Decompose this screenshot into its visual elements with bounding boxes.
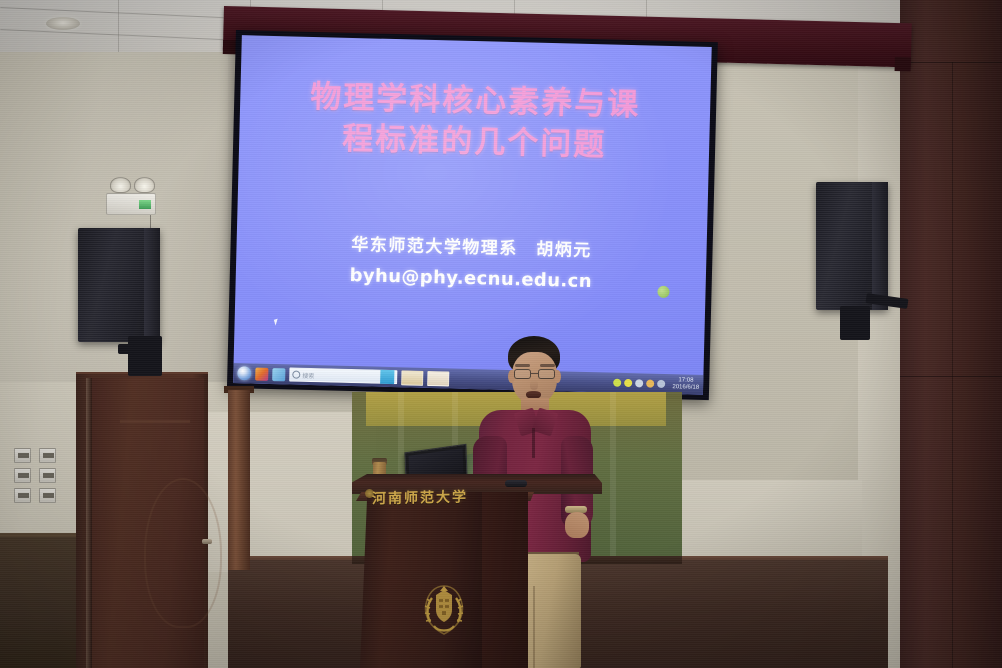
browser-icon[interactable] xyxy=(255,367,268,380)
glasses-lens-left xyxy=(514,369,531,379)
shield-icon[interactable] xyxy=(624,379,632,387)
light-switch[interactable] xyxy=(39,488,56,503)
speaker-bracket-left xyxy=(128,336,162,376)
microphone-base xyxy=(505,480,527,487)
slide-title: 物理学科核心素养与课 程标准的几个问题 xyxy=(239,75,711,169)
left-column xyxy=(228,390,250,570)
slide-email: byhu@phy.ecnu.edu.cn xyxy=(236,262,706,295)
presenter-brow-left xyxy=(515,364,530,367)
recessed-downlight xyxy=(46,17,80,30)
podium-name-plate: 河南师范大学 xyxy=(372,486,504,513)
emergency-lamp-right xyxy=(134,177,155,193)
right-wood-panel xyxy=(900,0,1002,668)
door-leaf xyxy=(92,378,204,668)
light-switch-panel[interactable] xyxy=(14,448,58,504)
emergency-led-icon xyxy=(139,200,151,209)
backdrop-stripe xyxy=(610,392,616,562)
glasses-lens-right xyxy=(538,369,555,379)
slide-green-dot-icon xyxy=(657,286,669,298)
presenter-brow-right xyxy=(540,364,555,367)
light-switch[interactable] xyxy=(39,448,56,463)
wall-speaker-right xyxy=(816,182,888,310)
podium-side xyxy=(482,492,528,668)
ime-icon[interactable] xyxy=(657,380,665,388)
taskbar-search-input[interactable]: 搜索 xyxy=(289,367,397,384)
search-placeholder: 搜索 xyxy=(302,370,314,379)
network-icon[interactable] xyxy=(613,379,621,387)
university-crest-icon xyxy=(418,580,470,638)
light-switch[interactable] xyxy=(14,448,31,463)
start-orb-icon[interactable] xyxy=(237,366,251,380)
trouser-seam xyxy=(533,586,535,668)
emergency-lamp-left xyxy=(110,177,131,193)
media-icon[interactable] xyxy=(272,368,285,381)
lecture-hall-photo: 物理学科核心素养与课 程标准的几个问题 华东师范大学物理系 胡炳元 byhu@p… xyxy=(0,0,1002,668)
update-icon[interactable] xyxy=(646,380,654,388)
speaker-bracket-right xyxy=(840,306,870,340)
taskbar-window-photo[interactable] xyxy=(427,370,449,386)
glasses-icon xyxy=(513,369,557,379)
side-door[interactable] xyxy=(76,372,208,668)
mouse-cursor-icon xyxy=(274,319,280,326)
taskbar-clock[interactable]: 17:08 2016/6/18 xyxy=(668,377,699,393)
door-oval-motif xyxy=(144,478,222,628)
light-switch[interactable] xyxy=(14,468,31,483)
presenter-shirt-placket xyxy=(532,428,535,458)
sound-icon[interactable] xyxy=(635,379,643,387)
taskbar-window-folder[interactable] xyxy=(401,370,423,386)
search-go-button[interactable] xyxy=(380,370,394,384)
speaker-bracket-arm-left xyxy=(118,344,134,354)
presenter-hand-right xyxy=(565,512,589,538)
glasses-bridge xyxy=(531,373,538,374)
left-wainscot xyxy=(0,537,76,668)
door-handle-icon[interactable] xyxy=(202,539,212,544)
light-switch[interactable] xyxy=(14,488,31,503)
door-panel-line xyxy=(120,420,190,423)
presenter-nose xyxy=(530,380,538,390)
emergency-light xyxy=(106,193,156,215)
light-switch[interactable] xyxy=(39,468,56,483)
slide-affiliation: 华东师范大学物理系 胡炳元 xyxy=(236,230,706,267)
search-icon xyxy=(292,371,300,379)
wall-speaker-left xyxy=(78,228,160,342)
system-tray[interactable]: 17:08 2016/6/18 xyxy=(613,375,699,392)
